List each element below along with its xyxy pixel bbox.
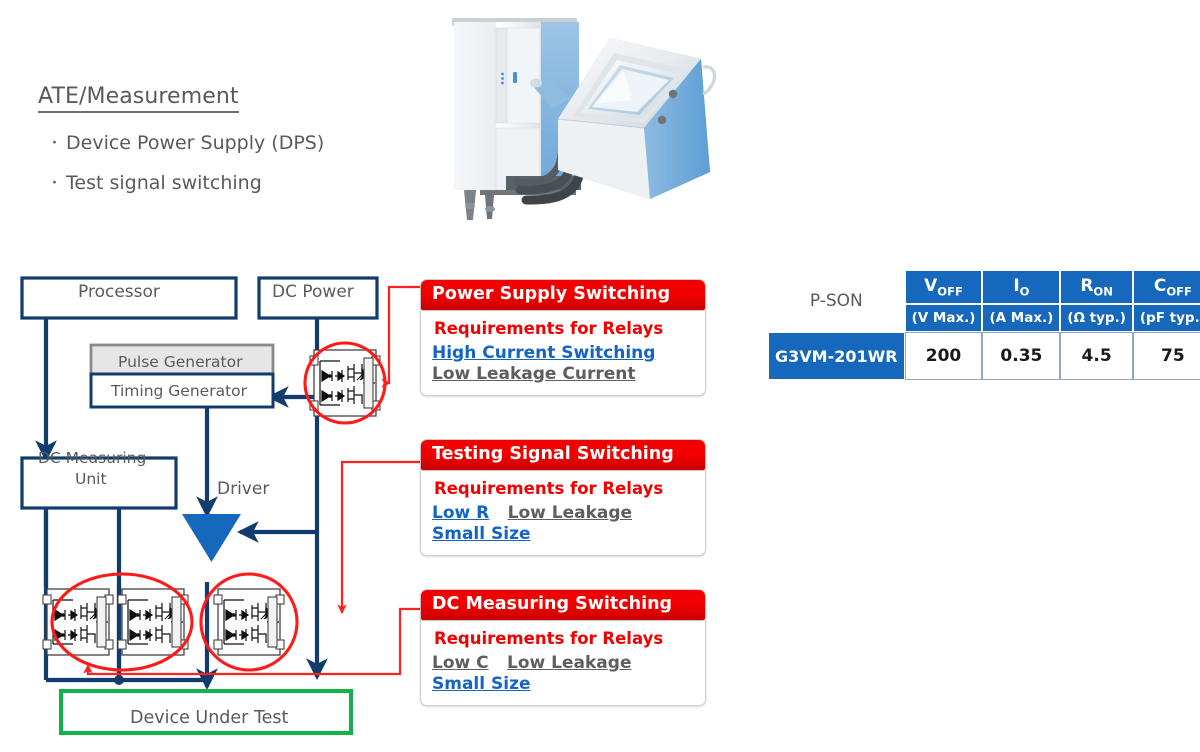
relay-spec-table: P-SON VOFF IO RON COFF ILEAK (V Max.) (A… [768,270,1200,380]
table-row: G3VM-201WR 200 0.35 4.5 75 10 at200V [768,332,1200,380]
cell-value-coff: 75 [1133,332,1200,380]
block-timing-generator[interactable] [91,374,273,407]
block-pulse-generator[interactable] [91,345,273,377]
callout-dc-measuring-switching[interactable]: DC Measuring Switching Requirements for … [420,589,706,706]
junction-dot [114,675,124,685]
cell-header-ron: RON [1060,270,1133,304]
callout-keyword-line: Low Leakage Current [432,364,695,385]
cell-value-voff: 200 [905,332,983,380]
block-dc-power[interactable] [259,278,377,318]
cell-part-number[interactable]: G3VM-201WR [768,332,905,380]
callout-body: Requirements for Relays High Current Swi… [421,310,705,395]
symbol-main: R [1080,276,1093,296]
symbol-sub: OFF [1166,284,1192,298]
test-head-graphic [558,38,715,199]
callout-requirement: Requirements for Relays [434,479,695,498]
callout-body: Requirements for Relays Low C Low Leakag… [421,620,705,705]
cell-header-io: IO [982,270,1060,304]
slide-canvas: ATE/Measurement ・Device Power Supply (DP… [0,0,1200,752]
ate-block-diagram [0,262,420,752]
cell-unit-ron: (Ω typ.) [1060,304,1133,332]
callout-requirement: Requirements for Relays [434,629,695,648]
callout-keyword[interactable]: Low R [432,503,489,523]
cell-header-coff: COFF [1133,270,1200,304]
block-processor[interactable] [22,278,236,318]
cell-unit-io: (A Max.) [982,304,1060,332]
callout-keyword[interactable]: Low C [432,653,489,673]
callout-keyword-line: Small Size [432,524,695,545]
cell-package-label: P-SON [768,270,905,332]
callout-keyword-line: Low R Low Leakage [432,503,695,524]
block-device-under-test[interactable] [61,691,351,733]
driver-amplifier-triangle[interactable] [182,514,241,562]
callout-header: Power Supply Switching [421,280,705,310]
cell-unit-coff: (pF typ.) [1133,304,1200,332]
callout-keyword[interactable]: Low Leakage [507,653,631,673]
callout-keyword[interactable]: Low Leakage Current [432,364,635,384]
symbol-sub: OFF [937,284,963,298]
bullet-marker-icon: ・ [48,136,61,151]
table-header-row-symbols: P-SON VOFF IO RON COFF ILEAK [768,270,1200,304]
bullet-item-device-power-supply: ・Device Power Supply (DPS) [48,132,324,154]
block-dc-measuring-unit[interactable] [22,458,176,508]
symbol-sub: ON [1093,284,1112,298]
symbol-sub: O [1020,284,1030,298]
callout-header: Testing Signal Switching [421,440,705,470]
cell-value-ron: 4.5 [1060,332,1133,380]
ate-test-system-illustration [418,4,748,226]
cell-unit-voff: (V Max.) [905,304,983,332]
callout-keyword[interactable]: Small Size [432,674,531,694]
callout-keyword[interactable]: Small Size [432,524,531,544]
callout-header: DC Measuring Switching [421,590,705,620]
callout-testing-signal-switching[interactable]: Testing Signal Switching Requirements fo… [420,439,706,556]
bullet-label: Test signal switching [66,172,262,194]
callout-keyword-line: Small Size [432,674,695,695]
page-title: ATE/Measurement [38,84,239,113]
cell-value-io: 0.35 [982,332,1060,380]
bullet-item-test-signal-switching: ・Test signal switching [48,172,262,194]
callout-requirement: Requirements for Relays [434,319,695,338]
bullet-marker-icon: ・ [48,176,61,191]
callout-keyword-line: Low C Low Leakage [432,653,695,674]
callout-keyword[interactable]: High Current Switching [432,343,655,363]
callout-body: Requirements for Relays Low R Low Leakag… [421,470,705,555]
callout-keyword-line: High Current Switching [432,343,695,364]
bullet-label: Device Power Supply (DPS) [66,132,324,154]
callout-keyword[interactable]: Low Leakage [508,503,632,523]
symbol-main: V [924,276,937,296]
cell-header-voff: VOFF [905,270,983,304]
symbol-main: C [1154,276,1166,296]
callout-power-supply-switching[interactable]: Power Supply Switching Requirements for … [420,279,706,396]
